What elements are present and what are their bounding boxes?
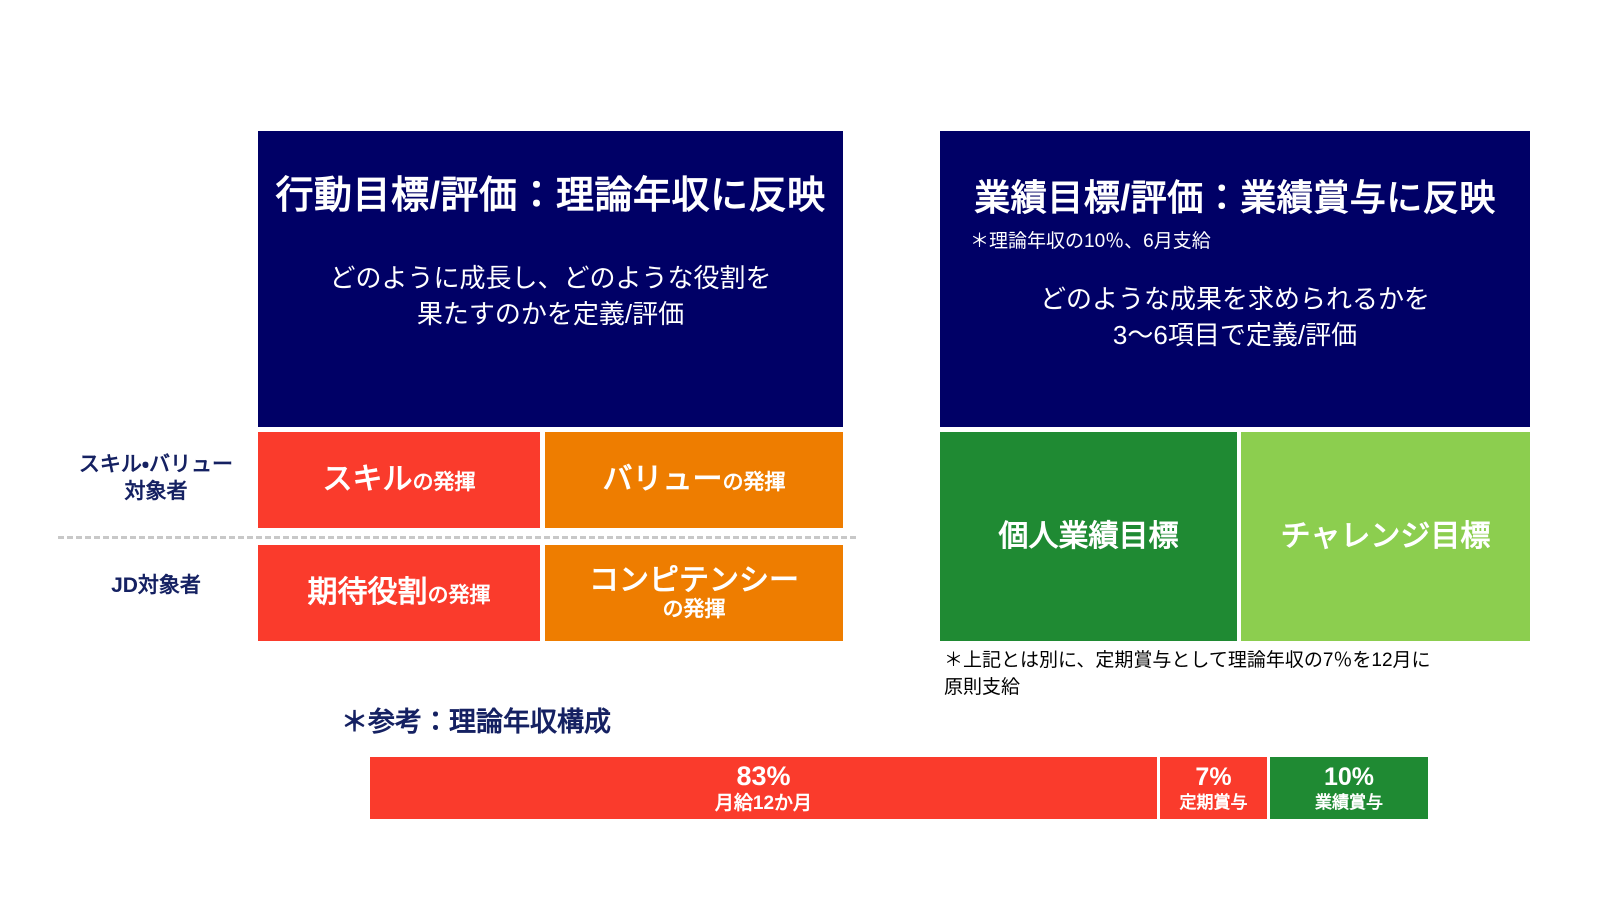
behavior-goal-title: 行動目標/評価：理論年収に反映	[258, 175, 843, 219]
matrix-cell-competency-suffix: の発揮	[663, 598, 726, 621]
matrix-cell-value-main: バリュー	[603, 463, 723, 496]
matrix-cell-competency-text: コンピテンシー の発揮	[583, 564, 805, 621]
matrix-cell-skill: スキルの発揮	[258, 432, 540, 528]
bar-segment-monthly-salary-label: 月給12か月	[715, 794, 812, 815]
behavior-goal-panel: 行動目標/評価：理論年収に反映 どのように成長し、どのような役割を 果たすのかを…	[258, 131, 843, 427]
behavior-goal-description: どのように成長し、どのような役割を 果たすのかを定義/評価	[258, 261, 843, 333]
row-label-skill-value: スキル・バリュー 対象者	[58, 452, 254, 506]
dashed-divider	[58, 536, 856, 539]
annual-income-composition-bar: 83% 月給12か月 7% 定期賞与 10% 業績賞与	[370, 757, 1428, 819]
matrix-cell-personal-performance-goal: 個人業績目標	[940, 432, 1237, 641]
matrix-cell-personal-performance-goal-main: 個人業績目標	[999, 520, 1179, 553]
bar-segment-regular-bonus: 7% 定期賞与	[1160, 757, 1270, 819]
matrix-cell-expected-role-main: 期待役割	[308, 576, 428, 609]
regular-bonus-footnote: ＊上記とは別に、定期賞与として理論年収の7％を12月に 原則支給	[944, 648, 1504, 702]
matrix-cell-expected-role-suffix: の発揮	[428, 584, 491, 607]
performance-goal-description: どのような成果を求められるかを 3〜6項目で定義/評価	[940, 282, 1530, 354]
performance-goal-title: 業績目標/評価：業績賞与に反映	[940, 177, 1530, 218]
matrix-cell-challenge-goal-main: チャレンジ目標	[1281, 520, 1491, 553]
bar-segment-monthly-salary-percent: 83%	[736, 762, 790, 791]
bar-segment-performance-bonus-percent: 10%	[1324, 764, 1374, 791]
matrix-cell-value-suffix: の発揮	[723, 471, 786, 494]
matrix-cell-value-text: バリューの発揮	[597, 462, 792, 498]
bar-segment-monthly-salary: 83% 月給12か月	[370, 757, 1160, 819]
matrix-cell-skill-suffix: の発揮	[413, 471, 476, 494]
row-label-jd: JD対象者	[58, 573, 254, 600]
matrix-cell-competency: コンピテンシー の発揮	[545, 545, 843, 641]
reference-bar-title: ＊参考：理論年収構成	[341, 700, 611, 739]
performance-goal-panel: 業績目標/評価：業績賞与に反映 ＊理論年収の10％、6月支給 どのような成果を求…	[940, 131, 1530, 427]
bar-segment-performance-bonus: 10% 業績賞与	[1270, 757, 1428, 819]
matrix-cell-skill-text: スキルの発揮	[317, 462, 482, 498]
matrix-cell-skill-main: スキル	[323, 463, 413, 496]
matrix-cell-challenge-goal: チャレンジ目標	[1241, 432, 1530, 641]
matrix-cell-expected-role: 期待役割の発揮	[258, 545, 540, 641]
matrix-cell-value: バリューの発揮	[545, 432, 843, 528]
matrix-cell-competency-main: コンピテンシー	[589, 564, 799, 597]
bar-segment-regular-bonus-percent: 7%	[1195, 764, 1231, 791]
matrix-cell-challenge-goal-text: チャレンジ目標	[1275, 519, 1497, 555]
matrix-cell-expected-role-text: 期待役割の発揮	[302, 575, 497, 611]
bar-segment-regular-bonus-label: 定期賞与	[1180, 794, 1248, 812]
matrix-cell-personal-performance-goal-text: 個人業績目標	[993, 519, 1185, 555]
bar-segment-performance-bonus-label: 業績賞与	[1315, 794, 1383, 812]
slide-canvas: 行動目標/評価：理論年収に反映 どのように成長し、どのような役割を 果たすのかを…	[0, 0, 1600, 900]
performance-goal-note: ＊理論年収の10％、6月支給	[970, 231, 1530, 254]
